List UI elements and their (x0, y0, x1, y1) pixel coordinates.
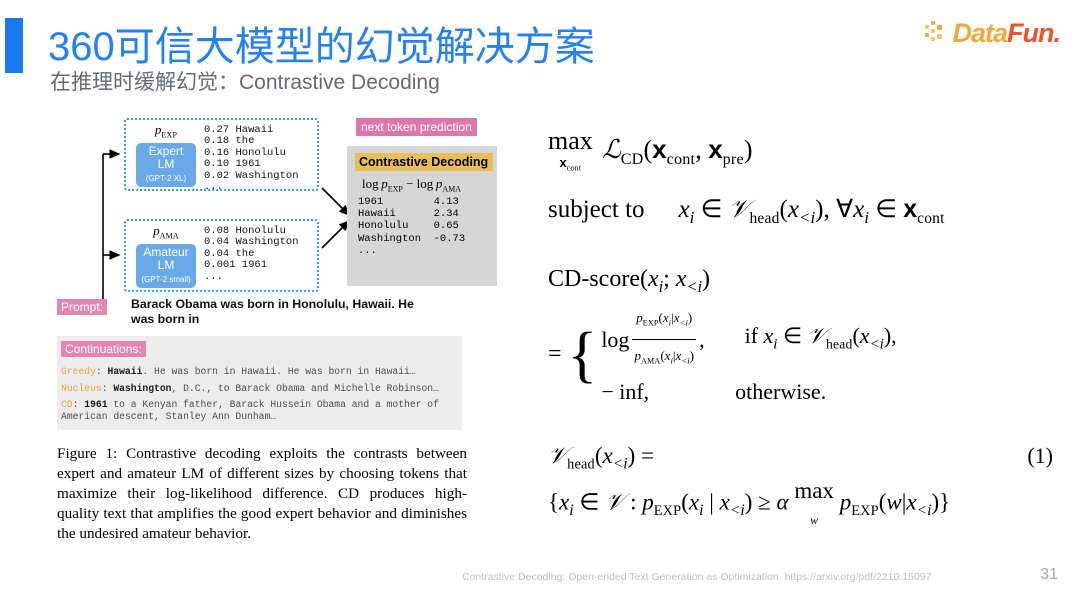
logo-text-fun: Fun. (1007, 18, 1060, 49)
expert-chip-line2: LM (136, 158, 196, 171)
cd-log-ratio-formula: log pEXP − log pAMA (362, 176, 461, 194)
objective-body: ℒCD(xcont, xpre) (597, 135, 753, 164)
continuation-method-label: CD (61, 399, 73, 410)
max-operator: max xcont (548, 128, 593, 176)
figure-caption: Figure 1: Contrastive decoding exploits … (57, 444, 467, 544)
footer-citation: Contrastive Decoding: Open-ended Text Ge… (462, 571, 931, 583)
equation-cd-score-lhs: CD-score(xi; x<i) (548, 266, 1053, 297)
p-exp-label: pEXP (155, 124, 177, 142)
logo-text-data: Data (952, 18, 1007, 49)
continuations-block: Continuations: Greedy: Hawaii. He was bo… (57, 336, 462, 430)
prompt-text: Barack Obama was born in Honolulu, Hawai… (131, 297, 431, 327)
amateur-chip-line1: Amateur (136, 246, 196, 259)
math-equations: max xcont ℒCD(xcont, xpre) subject toxi … (548, 128, 1053, 530)
amateur-lm-box: pAMA Amateur LM (GPT-2 small) 0.08 Honol… (124, 219, 319, 292)
continuation-cd: CD: 1961 to a Kenyan father, Barack Huss… (61, 399, 456, 422)
continuation-nucleus: Nucleus: Washington, D.C., to Barack Oba… (61, 383, 456, 395)
expert-chip-line1: Expert (136, 145, 196, 158)
amateur-chip-line2: LM (136, 259, 196, 272)
expert-lm-chip-group: pEXP Expert LM (GPT-2 XL) (134, 124, 198, 187)
expert-lm-box: pEXP Expert LM (GPT-2 XL) 0.27 Hawaii 0.… (124, 118, 319, 191)
cases-body: log pEXP(xi|x<i) pAMA(xi|x<i) , if xi ∈ … (601, 303, 896, 407)
expert-lm-chip: Expert LM (GPT-2 XL) (136, 143, 196, 187)
continuation-rest: . He was born in Hawaii. He was born in … (142, 366, 415, 377)
next-token-prediction-badge: next token prediction (356, 118, 477, 136)
amateur-chip-model: (GPT-2 small) (136, 273, 196, 286)
amateur-lm-chip-group: pAMA Amateur LM (GPT-2 small) (134, 225, 198, 288)
equation-number: (1) (1027, 443, 1053, 469)
equation-objective: max xcont ℒCD(xcont, xpre) (548, 128, 1053, 190)
page-subtitle: 在推理时缓解幻觉：Contrastive Decoding (50, 66, 440, 96)
page-title: 360可信大模型的幻觉解决方案 (48, 14, 595, 72)
continuation-rest: to a Kenyan father, Barack Hussein Obama… (61, 399, 439, 422)
case-row-log: log pEXP(xi|x<i) pAMA(xi|x<i) , if xi ∈ … (601, 303, 896, 377)
continuation-greedy: Greedy: Hawaii. He was born in Hawaii. H… (61, 366, 456, 378)
prompt-label: Prompt: (57, 299, 107, 315)
amateur-lm-chip: Amateur LM (GPT-2 small) (136, 244, 196, 288)
continuations-label: Continuations: (61, 341, 146, 357)
continuation-method-label: Nucleus (61, 383, 102, 394)
case-condition-head: if xi ∈ 𝒱head(x<i), (745, 321, 897, 359)
continuation-rest: , D.C., to Barack Obama and Michelle Rob… (171, 383, 438, 394)
continuation-method-label: Greedy (61, 366, 96, 377)
equation-constraint: subject toxi ∈ 𝒱head(x<i), ∀xi ∈ xcont (548, 194, 1053, 228)
cd-score-rows: 1961 4.13 Hawaii 2.34 Honolulu 0.65 Wash… (358, 196, 465, 257)
page-number: 31 (1040, 566, 1058, 584)
expert-chip-model: (GPT-2 XL) (136, 172, 196, 185)
equation-vhead-lhs: 𝒱head(x<i) = (1) (548, 443, 1053, 474)
prompt-row: Prompt: Barack Obama was born in Honolul… (57, 298, 462, 316)
log-ratio-fraction: pEXP(xi|x<i) pAMA(xi|x<i) (632, 303, 696, 377)
p-ama-label: pAMA (153, 225, 179, 243)
case-row-neginf: − inf, otherwise. (601, 377, 896, 407)
expert-distribution: 0.27 Hawaii 0.18 the 0.16 Honolulu 0.10 … (204, 125, 299, 193)
continuation-bold-token: 1961 (84, 399, 107, 410)
title-accent-bar (5, 18, 23, 73)
equation-vhead-rhs: {xi ∈ 𝒱 : pEXP(xi | x<i) ≥ α maxw pEXP(w… (548, 478, 1053, 530)
datafun-dots-icon (925, 21, 951, 45)
cases-brace: { (568, 333, 598, 377)
amateur-distribution: 0.08 Honolulu 0.04 Washington 0.04 the 0… (204, 226, 299, 283)
case-condition-otherwise: otherwise. (735, 377, 826, 407)
max-over-w: maxw (794, 478, 834, 530)
contrastive-decoding-title: Contrastive Decoding (355, 153, 493, 171)
datafun-logo: DataFun. (925, 16, 1060, 50)
continuation-bold-token: Hawaii (108, 366, 143, 377)
equation-cd-score-cases: = { log pEXP(xi|x<i) pAMA(xi|x<i) , if x… (548, 303, 1053, 407)
continuation-bold-token: Washington (113, 383, 171, 394)
